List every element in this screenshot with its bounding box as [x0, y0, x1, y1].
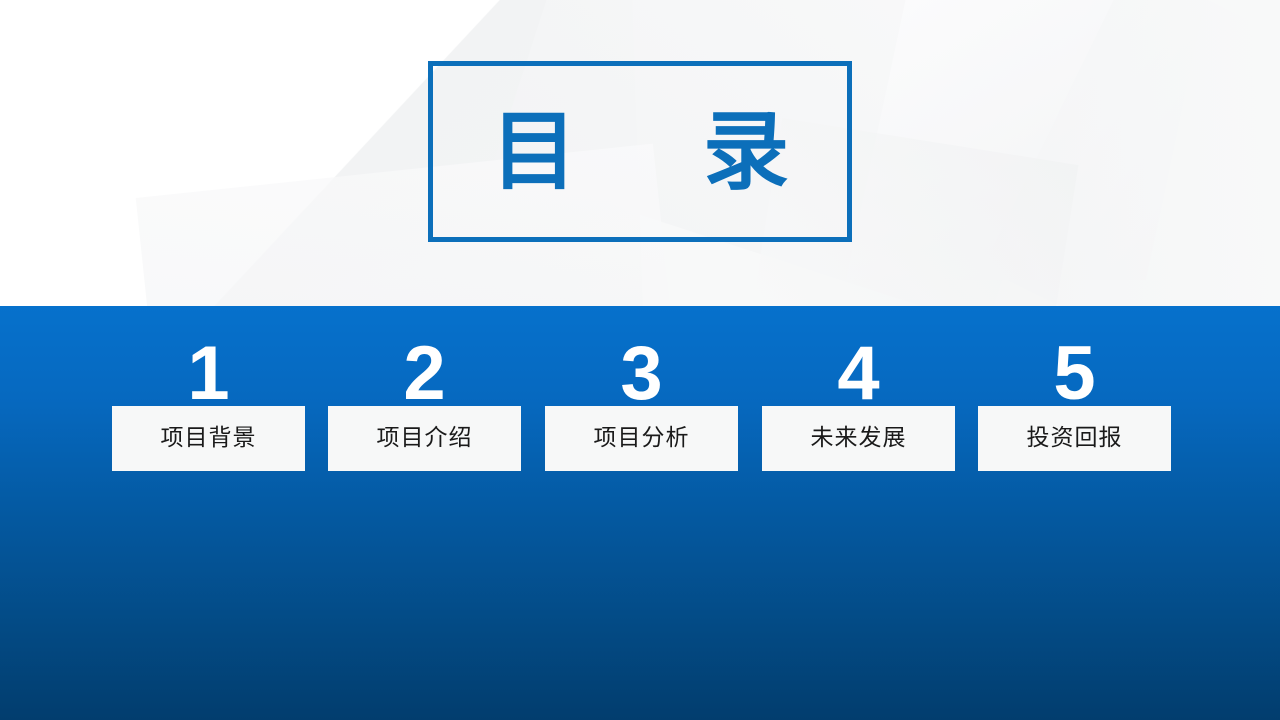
toc-item-number: 1 [112, 336, 305, 412]
toc-item-label: 未来发展 [811, 427, 907, 450]
toc-item-number: 4 [762, 336, 955, 412]
toc-item-number: 3 [545, 336, 738, 412]
slide-title-box: 目 录 [428, 61, 852, 242]
toc-item-card[interactable]: 项目介绍 [328, 406, 521, 471]
toc-item-card[interactable]: 项目背景 [112, 406, 305, 471]
toc-item-number: 2 [328, 336, 521, 412]
toc-item-1[interactable]: 1 项目背景 [112, 406, 305, 571]
toc-item-label: 投资回报 [1027, 427, 1123, 450]
toc-item-card[interactable]: 项目分析 [545, 406, 738, 471]
slide-body-area: 1 项目背景 2 项目介绍 3 项目分析 4 未来发展 [0, 306, 1280, 720]
toc-item-label: 项目背景 [161, 427, 257, 450]
toc-item-label: 项目介绍 [377, 427, 473, 450]
toc-item-number: 5 [978, 336, 1171, 412]
toc-item-3[interactable]: 3 项目分析 [545, 406, 738, 571]
presentation-slide: 目 录 1 项目背景 2 项目介绍 3 项目分析 [0, 0, 1280, 720]
toc-item-2[interactable]: 2 项目介绍 [328, 406, 521, 571]
background-facet-3 [846, 0, 1214, 280]
toc-item-label: 项目分析 [594, 427, 690, 450]
toc-item-4[interactable]: 4 未来发展 [762, 406, 955, 571]
page-title: 目 录 [471, 109, 809, 195]
toc-item-5[interactable]: 5 投资回报 [978, 406, 1171, 571]
background-facet-4 [983, 0, 1280, 306]
toc-item-card[interactable]: 投资回报 [978, 406, 1171, 471]
toc-item-card[interactable]: 未来发展 [762, 406, 955, 471]
